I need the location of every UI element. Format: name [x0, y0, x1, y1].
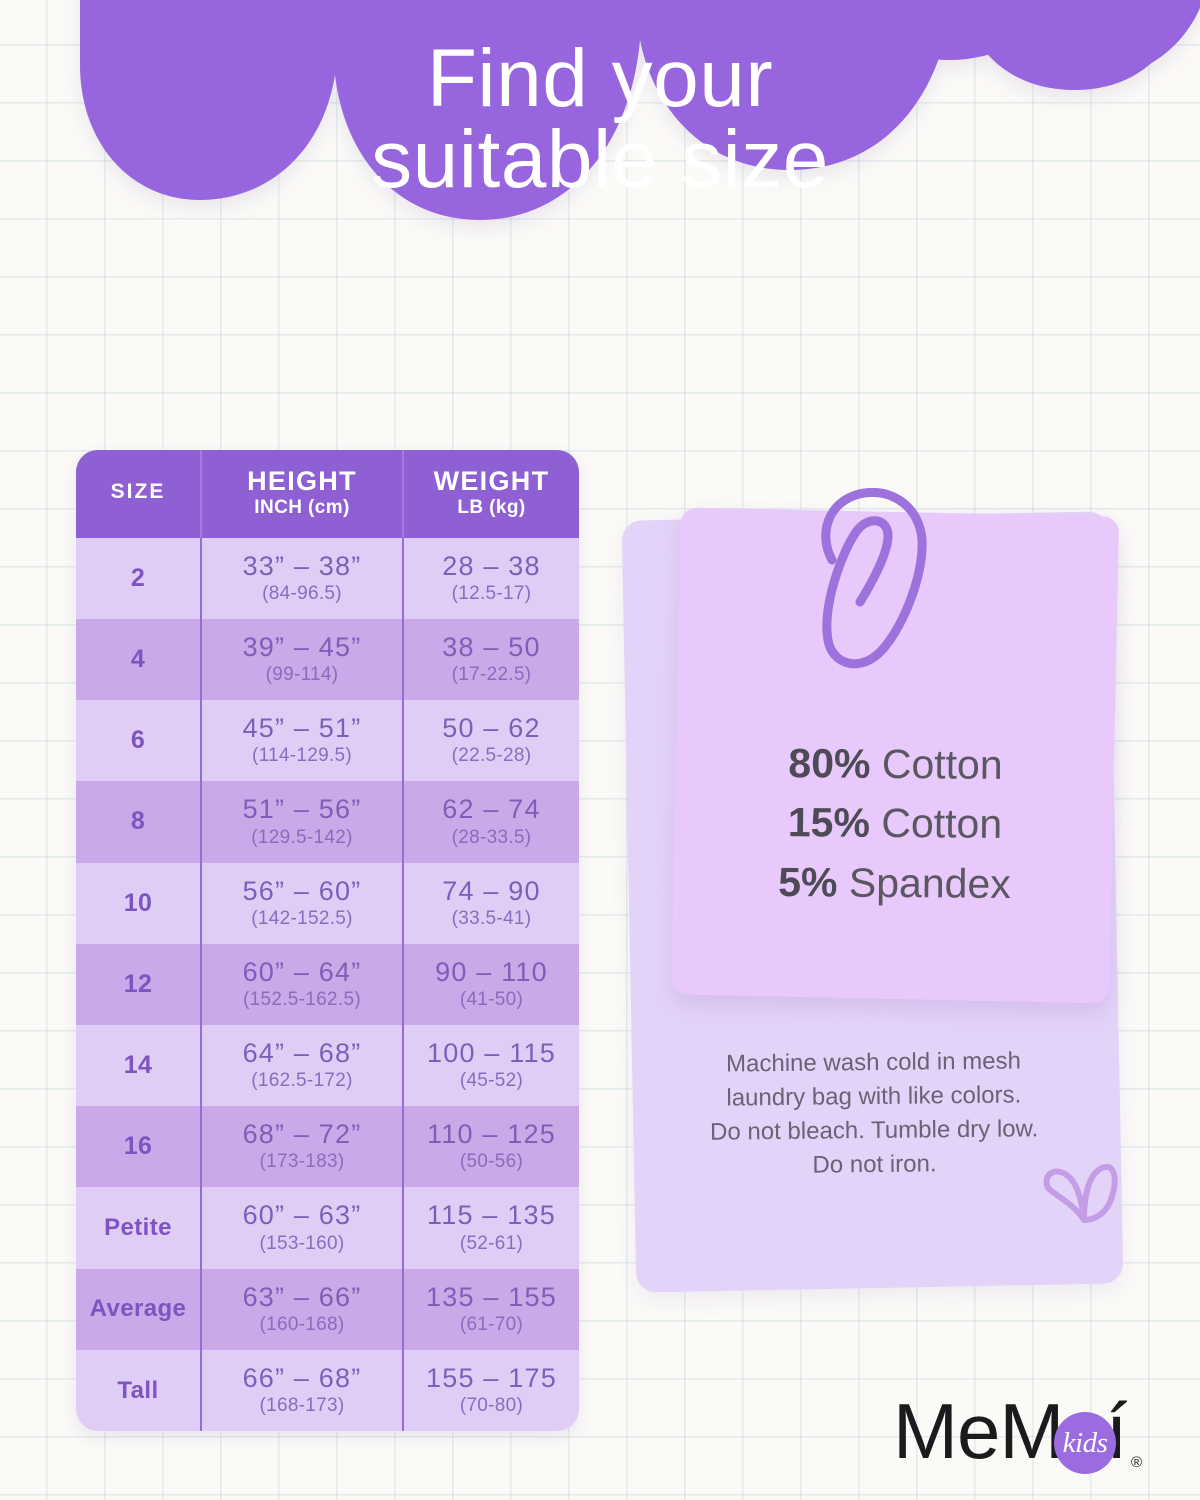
- cell-size: Average: [76, 1269, 200, 1350]
- column-header-height: HEIGHT INCH (cm): [200, 450, 402, 538]
- size-value: 10: [124, 889, 153, 918]
- weight-kg: (17-22.5): [406, 664, 577, 686]
- cell-height: 60” – 63”(153-160): [200, 1187, 402, 1268]
- column-header-height-unit: INCH (cm): [204, 497, 400, 519]
- weight-kg: (70-80): [406, 1395, 577, 1417]
- cell-weight: 115 – 135(52-61): [402, 1187, 579, 1268]
- composition-material: Cotton: [881, 800, 1002, 847]
- table-row: 439” – 45”(99-114)38 – 50(17-22.5): [76, 619, 579, 700]
- cell-weight: 28 – 38(12.5-17): [402, 538, 579, 619]
- cell-size: 6: [76, 700, 200, 781]
- height-inches: 33” – 38”: [204, 551, 400, 581]
- cell-weight: 38 – 50(17-22.5): [402, 619, 579, 700]
- composition-percent: 5%: [778, 859, 838, 906]
- brand-logo: MeMoí kids ®: [893, 1392, 1143, 1487]
- composition-line: 5% Spandex: [675, 852, 1114, 915]
- height-inches: 60” – 63”: [204, 1200, 400, 1230]
- weight-kg: (45-52): [406, 1070, 577, 1092]
- height-inches: 63” – 66”: [204, 1282, 400, 1312]
- weight-lb: 62 – 74: [406, 794, 577, 824]
- brand-wordmark-pre: MeM: [893, 1387, 1063, 1475]
- weight-kg: (61-70): [406, 1314, 577, 1336]
- fabric-composition: 80% Cotton 15% Cotton 5% Spandex: [675, 733, 1115, 915]
- height-cm: (153-160): [204, 1233, 400, 1255]
- height-cm: (160-168): [204, 1314, 400, 1336]
- heart-icon: [1040, 1158, 1120, 1248]
- cell-weight: 155 – 175(70-80): [402, 1350, 579, 1431]
- height-cm: (142-152.5): [204, 908, 400, 930]
- cell-weight: 90 – 110(41-50): [402, 944, 579, 1025]
- height-cm: (114-129.5): [204, 745, 400, 767]
- cell-weight: 135 – 155(61-70): [402, 1269, 579, 1350]
- composition-line: 80% Cotton: [676, 733, 1115, 796]
- size-value: 8: [131, 807, 145, 836]
- table-row: 1056” – 60”(142-152.5)74 – 90(33.5-41): [76, 863, 579, 944]
- height-cm: (173-183): [204, 1151, 400, 1173]
- care-line: Do not bleach. Tumble dry low.: [650, 1112, 1098, 1151]
- cell-weight: 62 – 74(28-33.5): [402, 781, 579, 862]
- composition-material: Spandex: [849, 859, 1011, 906]
- table-row: 233” – 38”(84-96.5)28 – 38(12.5-17): [76, 538, 579, 619]
- cell-height: 63” – 66”(160-168): [200, 1269, 402, 1350]
- weight-kg: (41-50): [406, 989, 577, 1011]
- composition-material: Cotton: [882, 741, 1003, 788]
- cell-size: Petite: [76, 1187, 200, 1268]
- height-inches: 60” – 64”: [204, 957, 400, 987]
- care-instructions: Machine wash cold in mesh laundry bag wi…: [649, 1044, 1098, 1185]
- composition-line: 15% Cotton: [676, 793, 1115, 856]
- care-line: Do not iron.: [650, 1146, 1098, 1185]
- cell-height: 68” – 72”(173-183): [200, 1106, 402, 1187]
- weight-lb: 28 – 38: [406, 551, 577, 581]
- composition-percent: 80%: [788, 740, 870, 787]
- weight-lb: 50 – 62: [406, 713, 577, 743]
- weight-lb: 155 – 175: [406, 1363, 577, 1393]
- cell-height: 51” – 56”(129.5-142): [200, 781, 402, 862]
- weight-lb: 135 – 155: [406, 1282, 577, 1312]
- care-line: laundry bag with like colors.: [650, 1078, 1098, 1117]
- table-body: 233” – 38”(84-96.5)28 – 38(12.5-17)439” …: [76, 538, 579, 1432]
- height-cm: (84-96.5): [204, 583, 400, 605]
- weight-lb: 100 – 115: [406, 1038, 577, 1068]
- size-value: Average: [90, 1295, 187, 1323]
- cell-height: 66” – 68”(168-173): [200, 1350, 402, 1431]
- weight-lb: 38 – 50: [406, 632, 577, 662]
- cell-height: 60” – 64”(152.5-162.5): [200, 944, 402, 1025]
- weight-kg: (28-33.5): [406, 827, 577, 849]
- table-row: 1260” – 64”(152.5-162.5)90 – 110(41-50): [76, 944, 579, 1025]
- height-cm: (129.5-142): [204, 827, 400, 849]
- weight-lb: 74 – 90: [406, 876, 577, 906]
- cell-weight: 50 – 62(22.5-28): [402, 700, 579, 781]
- table-header-row: SIZE HEIGHT INCH (cm) WEIGHT LB (kg): [76, 450, 579, 538]
- table-row: Average63” – 66”(160-168)135 – 155(61-70…: [76, 1269, 579, 1350]
- cell-size: 4: [76, 619, 200, 700]
- weight-kg: (22.5-28): [406, 745, 577, 767]
- care-line: Machine wash cold in mesh: [649, 1044, 1097, 1083]
- column-header-weight-unit: LB (kg): [406, 497, 577, 519]
- table-row: 851” – 56”(129.5-142)62 – 74(28-33.5): [76, 781, 579, 862]
- cell-height: 64” – 68”(162.5-172): [200, 1025, 402, 1106]
- weight-kg: (50-56): [406, 1151, 577, 1173]
- height-cm: (99-114): [204, 664, 400, 686]
- table-row: 645” – 51”(114-129.5)50 – 62(22.5-28): [76, 700, 579, 781]
- cell-weight: 110 – 125(50-56): [402, 1106, 579, 1187]
- weight-kg: (52-61): [406, 1233, 577, 1255]
- table-row: Tall66” – 68”(168-173)155 – 175(70-80): [76, 1350, 579, 1431]
- weight-lb: 115 – 135: [406, 1200, 577, 1230]
- column-header-height-label: HEIGHT: [204, 467, 400, 496]
- height-inches: 68” – 72”: [204, 1119, 400, 1149]
- cell-size: 8: [76, 781, 200, 862]
- table-row: 1668” – 72”(173-183)110 – 125(50-56): [76, 1106, 579, 1187]
- height-inches: 45” – 51”: [204, 713, 400, 743]
- column-header-size: SIZE: [76, 450, 200, 538]
- cell-size: Tall: [76, 1350, 200, 1431]
- size-value: 6: [131, 726, 145, 755]
- cell-height: 56” – 60”(142-152.5): [200, 863, 402, 944]
- cell-size: 14: [76, 1025, 200, 1106]
- registered-trademark-icon: ®: [1131, 1454, 1142, 1471]
- column-header-weight-label: WEIGHT: [406, 467, 577, 496]
- height-inches: 64” – 68”: [204, 1038, 400, 1068]
- table-row: Petite60” – 63”(153-160)115 – 135(52-61): [76, 1187, 579, 1268]
- page-title-line-2: suitable size: [0, 119, 1200, 200]
- height-inches: 66” – 68”: [204, 1363, 400, 1393]
- size-chart-table: SIZE HEIGHT INCH (cm) WEIGHT LB (kg) 233…: [76, 450, 579, 1431]
- page-title: Find your suitable size: [0, 38, 1200, 200]
- cell-height: 33” – 38”(84-96.5): [200, 538, 402, 619]
- page-title-line-1: Find your: [0, 38, 1200, 119]
- size-value: 4: [131, 645, 145, 674]
- size-value: 14: [124, 1051, 153, 1080]
- height-cm: (162.5-172): [204, 1070, 400, 1092]
- size-value: 16: [124, 1132, 153, 1161]
- weight-lb: 110 – 125: [406, 1119, 577, 1149]
- weight-lb: 90 – 110: [406, 957, 577, 987]
- column-header-size-label: SIZE: [78, 467, 198, 503]
- height-inches: 51” – 56”: [204, 794, 400, 824]
- cell-weight: 74 – 90(33.5-41): [402, 863, 579, 944]
- cell-size: 2: [76, 538, 200, 619]
- cell-size: 12: [76, 944, 200, 1025]
- size-value: Tall: [117, 1377, 158, 1405]
- kids-badge: kids: [1054, 1412, 1116, 1474]
- cell-size: 16: [76, 1106, 200, 1187]
- height-cm: (168-173): [204, 1395, 400, 1417]
- height-inches: 56” – 60”: [204, 876, 400, 906]
- paperclip-icon: [812, 482, 942, 682]
- cell-weight: 100 – 115(45-52): [402, 1025, 579, 1106]
- column-header-weight: WEIGHT LB (kg): [402, 450, 579, 538]
- cell-height: 45” – 51”(114-129.5): [200, 700, 402, 781]
- infographic-page: Find your suitable size SIZE HEIGHT INCH…: [0, 0, 1200, 1500]
- cell-height: 39” – 45”(99-114): [200, 619, 402, 700]
- cell-size: 10: [76, 863, 200, 944]
- size-value: 12: [124, 970, 153, 999]
- composition-percent: 15%: [788, 800, 870, 847]
- weight-kg: (33.5-41): [406, 908, 577, 930]
- height-inches: 39” – 45”: [204, 632, 400, 662]
- size-value: Petite: [104, 1214, 172, 1242]
- weight-kg: (12.5-17): [406, 583, 577, 605]
- height-cm: (152.5-162.5): [204, 989, 400, 1011]
- size-value: 2: [131, 564, 145, 593]
- table-row: 1464” – 68”(162.5-172)100 – 115(45-52): [76, 1025, 579, 1106]
